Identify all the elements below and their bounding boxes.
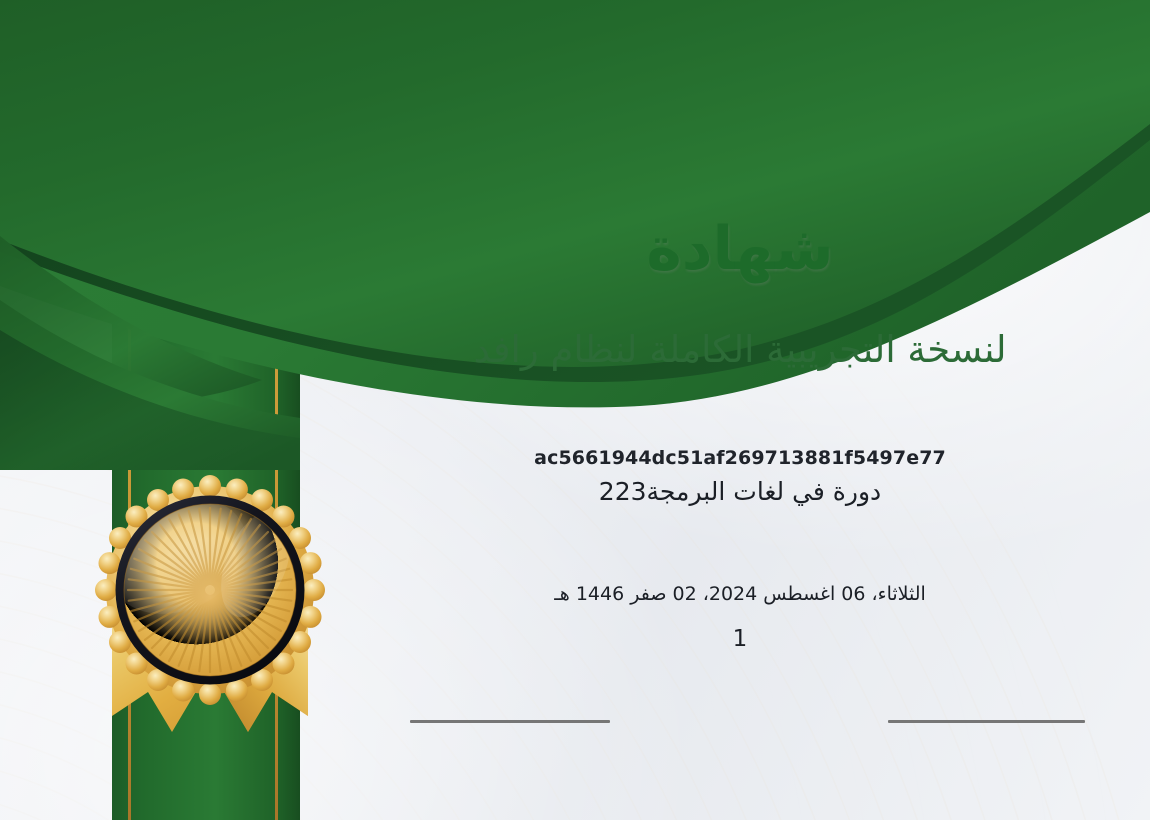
certificate-subtitle: لنسخة التجريبية الكاملة لنظام رافد <box>330 328 1150 372</box>
page-title: شهادة <box>330 216 1150 282</box>
band-gold-stripe-left <box>128 0 131 820</box>
course-name: دورة في لغات البرمجة223 <box>330 477 1150 506</box>
band-gold-stripe-right <box>275 0 278 820</box>
verification-hash: ac5661944dc51af269713881f5497e77 <box>330 447 1150 469</box>
serial-number: 1 <box>330 626 1150 652</box>
issue-date: الثلاثاء، 06 اغسطس 2024، 02 صفر 1446 هـ <box>330 583 1150 605</box>
signature-line-right <box>888 720 1085 723</box>
signature-line-left <box>410 720 610 723</box>
ribbon-band <box>112 0 300 820</box>
certificate-canvas: شهادة لنسخة التجريبية الكاملة لنظام رافد… <box>0 0 1150 820</box>
certificate-content: شهادة لنسخة التجريبية الكاملة لنظام رافد… <box>330 0 1150 820</box>
